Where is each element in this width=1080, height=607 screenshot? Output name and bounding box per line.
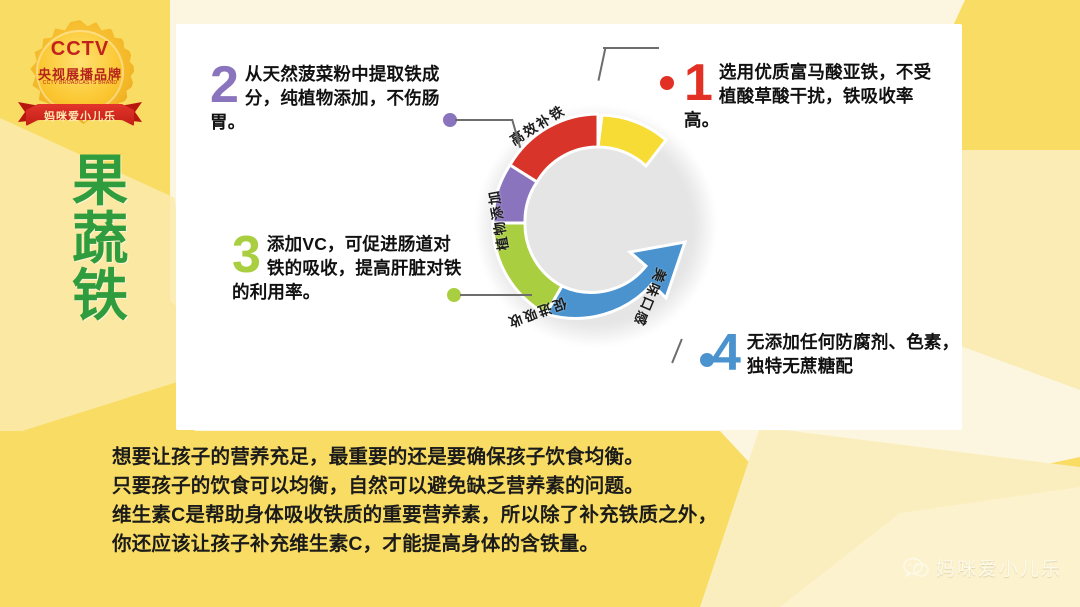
callout-4: 4 无添加任何防腐剂、色素，独特无蔗糖配	[712, 330, 962, 378]
cctv-brand-badge: CCTV 央视展播品牌 CCTV BROADCASTS BRAND 妈咪爱小儿乐	[16, 16, 144, 138]
paragraph-line-1: 想要让孩子的营养充足，最重要的还是要确保孩子饮食均衡。	[112, 443, 972, 472]
badge-en-text: CCTV BROADCASTS BRAND	[16, 80, 144, 86]
paragraph-line-2: 只要孩子的饮食可以均衡，自然可以避免缺乏营养素的问题。	[112, 472, 972, 501]
callout-3-number: 3	[232, 234, 261, 276]
callout-2: 2 从天然菠菜粉中提取铁成分，纯植物添加，不伤肠胃。	[210, 62, 455, 134]
callout-2-text: 从天然菠菜粉中提取铁成分，纯植物添加，不伤肠胃。	[210, 62, 455, 134]
wechat-account-name: 妈咪爱小儿乐	[936, 554, 1062, 581]
connector-line-2a	[455, 119, 513, 121]
slide-canvas: CCTV 央视展播品牌 CCTV BROADCASTS BRAND 妈咪爱小儿乐…	[0, 0, 1080, 607]
callout-4-number: 4	[712, 332, 741, 374]
connector-dot-1	[660, 76, 674, 90]
c-ring-diagram: 高效补铁 植物添加 促进吸收 美味口感	[470, 92, 720, 354]
paragraph-line-4: 你还应该让孩子补充维生素C，才能提高身体的含铁量。	[112, 530, 972, 559]
title-char-1: 果	[62, 152, 138, 210]
paragraph-line-3: 维生素C是帮助身体吸收铁质的重要营养素，所以除了补充铁质之外，	[112, 501, 972, 530]
page-title-vertical: 果 蔬 铁	[62, 152, 138, 325]
wechat-icon	[903, 557, 929, 579]
callout-1-text: 选用优质富马酸亚铁，不受植酸草酸干扰，铁吸收率高。	[684, 60, 934, 132]
badge-ribbon: 妈咪爱小儿乐	[18, 100, 142, 130]
callout-2-number: 2	[210, 64, 239, 106]
summary-paragraph: 想要让孩子的营养充足，最重要的还是要确保孩子饮食均衡。 只要孩子的饮食可以均衡，…	[112, 443, 972, 559]
callout-4-text: 无添加任何防腐剂、色素，独特无蔗糖配	[712, 330, 962, 378]
callout-3-text: 添加VC，可促进肠道对铁的吸收，提高肝脏对铁的利用率。	[232, 232, 462, 304]
ring-segment-yellow-tip	[598, 115, 666, 166]
callout-3: 3 添加VC，可促进肠道对铁的吸收，提高肝脏对铁的利用率。	[232, 232, 462, 304]
title-char-3: 铁	[62, 267, 138, 325]
wechat-watermark: 妈咪爱小儿乐	[903, 554, 1062, 581]
badge-logo-text: CCTV	[16, 38, 144, 61]
connector-line-1a	[603, 47, 659, 49]
callout-1: 1 选用优质富马酸亚铁，不受植酸草酸干扰，铁吸收率高。	[684, 60, 934, 132]
connector-line-3a	[460, 294, 532, 296]
title-char-2: 蔬	[62, 210, 138, 268]
callout-1-number: 1	[684, 62, 713, 104]
ribbon-label: 妈咪爱小儿乐	[18, 108, 142, 124]
